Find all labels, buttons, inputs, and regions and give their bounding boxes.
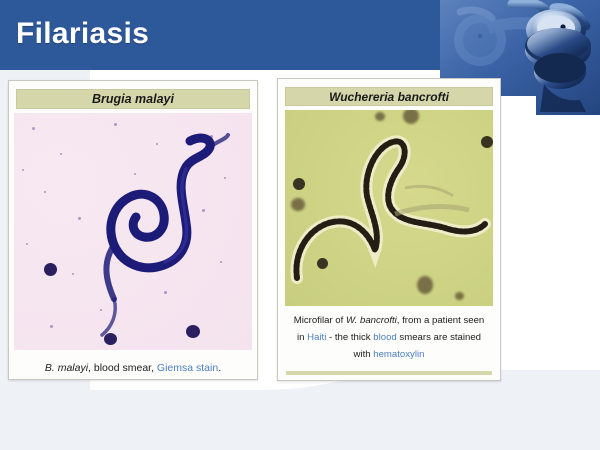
- caption-text-b: , from a patient seen: [397, 315, 484, 326]
- caption-brugia-malayi: B. malayi, blood smear, Giemsa stain.: [14, 360, 252, 376]
- caption-text-end: .: [218, 362, 221, 374]
- wuchereria-bancrofti-micrograph: [285, 110, 493, 306]
- caption-line-2: in Haiti - the thick blood smears are st…: [286, 330, 492, 347]
- panel-header-brugia-malayi: Brugia malayi: [16, 89, 250, 109]
- caption-text-d: - the thick: [326, 332, 373, 343]
- panel-wuchereria-bancrofti: Wuchereria bancrofti: [277, 78, 501, 381]
- caption-line-1: Microfilar of W. bancrofti, from a patie…: [286, 313, 492, 330]
- page-title: Filariasis: [16, 17, 149, 51]
- caption-text-c: in: [297, 332, 307, 343]
- caption-wuchereria-bancrofti: Microfilar of W. bancrofti, from a patie…: [283, 313, 495, 375]
- panel-header-wuchereria-bancrofti: Wuchereria bancrofti: [285, 87, 493, 106]
- caption-link-giemsa[interactable]: Giemsa stain: [157, 362, 218, 374]
- caption-link-haiti[interactable]: Haiti: [307, 332, 326, 343]
- caption-text-mid: , blood smear,: [88, 362, 157, 374]
- caption-species-italic: B. malayi: [45, 362, 88, 374]
- caption-species-italic: W. bancrofti: [346, 315, 397, 326]
- caption-link-blood[interactable]: blood: [373, 332, 396, 343]
- panel-brugia-malayi: Brugia malayi: [8, 80, 258, 380]
- caption-text-e: smears are stained: [397, 332, 481, 343]
- brugia-malayi-micrograph: [14, 113, 252, 350]
- caption-link-hematoxylin[interactable]: hematoxylin: [373, 349, 424, 360]
- slide-canvas: Filariasis: [0, 0, 600, 450]
- caption-footer-rule: [286, 371, 492, 375]
- caption-line-3: with hematoxylin: [286, 347, 492, 364]
- caption-text-f: with: [354, 349, 374, 360]
- caption-text-a: Microfilar of: [294, 315, 346, 326]
